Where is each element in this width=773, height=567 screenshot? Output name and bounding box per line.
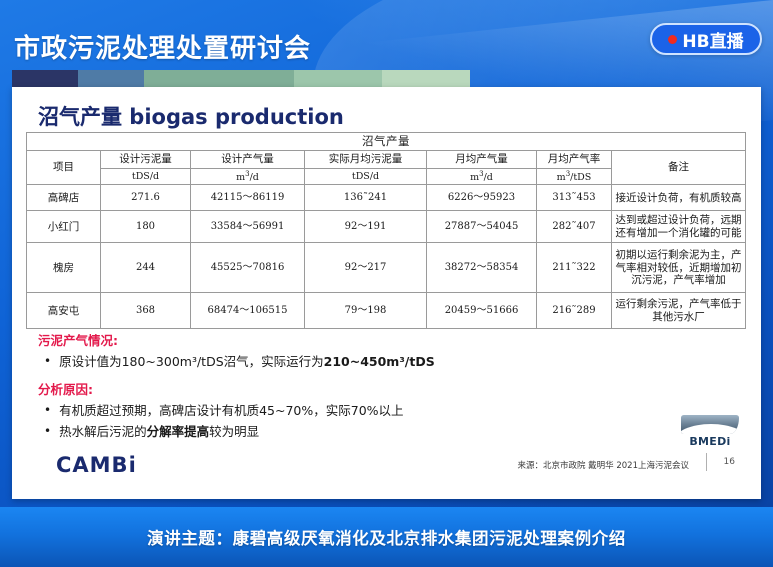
cell-design-gas: 33584～56991 xyxy=(191,211,305,243)
deck-title: 市政污泥处理处置研讨会 xyxy=(14,28,311,65)
table-caption: 沼气产量 xyxy=(27,133,746,151)
bullet-text: 原设计值为180~300m³/tDS沼气，实际运行为210~450m³/tDS xyxy=(59,354,435,370)
cell-remark: 接近设计负荷，有机质较高 xyxy=(612,185,746,211)
cell-project: 小红门 xyxy=(27,211,101,243)
bmedi-wave-icon xyxy=(681,415,739,434)
cell-remark: 达到或超过设计负荷，远期还有增加一个消化罐的可能 xyxy=(612,211,746,243)
color-strip-segment-2 xyxy=(78,70,144,87)
col-header-actual-sludge: 实际月均污泥量 xyxy=(305,151,427,169)
ribbon-topic-text: 演讲主题：康碧高级厌氧消化及北京排水集团污泥处理案例介绍 xyxy=(147,525,626,549)
bullet-text: 热水解后污泥的分解率提高较为明显 xyxy=(59,424,259,440)
cell-project: 高安屯 xyxy=(27,293,101,329)
table-caption-row: 沼气产量 xyxy=(27,133,746,151)
bullet-dot-icon: • xyxy=(44,354,51,369)
slide-card: 沼气产量 biogas production 沼气产量 项目 设计污泥量 设计产… xyxy=(12,87,761,499)
table-body: 高碑店271.642115～86119136˜2416226～95923313˜… xyxy=(27,185,746,329)
cambi-logo: CAMBi xyxy=(56,453,137,477)
cell-project: 高碑店 xyxy=(27,185,101,211)
bullet-item: •有机质超过预期，高碑店设计有机质45~70%，实际70%以上 xyxy=(44,403,558,419)
bullet-item: •热水解后污泥的分解率提高较为明显 xyxy=(44,424,558,440)
bullet-dot-icon: • xyxy=(44,403,51,418)
cell-gas-rate: 313˜453 xyxy=(537,185,612,211)
analysis-notes: 污泥产气情况:•原设计值为180~300m³/tDS沼气，实际运行为210~45… xyxy=(38,330,558,444)
col-header-remark: 备注 xyxy=(612,151,746,185)
table-row: 高安屯36868474～10651579～19820459～51666216˜2… xyxy=(27,293,746,329)
section-heading: 分析原因: xyxy=(38,379,558,398)
cell-design-sludge: 368 xyxy=(101,293,191,329)
table-header-names-row: 项目 设计污泥量 设计产气量 实际月均污泥量 月均产气量 月均产气率 备注 xyxy=(27,151,746,169)
col-unit-gas-rate: m3/tDS xyxy=(537,169,612,185)
col-unit-design-sludge: tDS/d xyxy=(101,169,191,185)
cell-remark: 初期以运行剩余泥为主，产气率相对较低，近期增加初沉污泥，产气率增加 xyxy=(612,243,746,293)
cell-gas-rate: 282˜407 xyxy=(537,211,612,243)
cell-actual-gas: 38272～58354 xyxy=(427,243,537,293)
bullet-emphasis: 210~450m³/tDS xyxy=(324,354,435,369)
section-heading: 污泥产气情况: xyxy=(38,330,558,349)
cell-actual-sludge: 136˜241 xyxy=(305,185,427,211)
footer-divider xyxy=(706,453,707,471)
bottom-ribbon: 演讲主题：康碧高级厌氧消化及北京排水集团污泥处理案例介绍 xyxy=(0,507,773,567)
cell-project: 槐房 xyxy=(27,243,101,293)
col-header-design-sludge: 设计污泥量 xyxy=(101,151,191,169)
cell-gas-rate: 216˜289 xyxy=(537,293,612,329)
page-number: 16 xyxy=(724,457,735,467)
color-strip-segment-1 xyxy=(12,70,78,87)
cell-design-gas: 68474～106515 xyxy=(191,293,305,329)
bmedi-logo: BMEDi xyxy=(681,415,739,448)
bmedi-logo-text: BMEDi xyxy=(681,435,739,448)
cell-gas-rate: 211˜322 xyxy=(537,243,612,293)
slide-title: 沼气产量 biogas production xyxy=(38,101,344,131)
cell-design-sludge: 271.6 xyxy=(101,185,191,211)
cell-actual-gas: 6226～95923 xyxy=(427,185,537,211)
cell-design-sludge: 180 xyxy=(101,211,191,243)
table-row: 槐房24445525～7081692～21738272～58354211˜322… xyxy=(27,243,746,293)
live-badge-label: HB直播 xyxy=(682,27,743,52)
color-strip-segment-4 xyxy=(294,70,382,87)
col-unit-design-gas: m3/d xyxy=(191,169,305,185)
cell-design-gas: 42115～86119 xyxy=(191,185,305,211)
table-row: 高碑店271.642115～86119136˜2416226～95923313˜… xyxy=(27,185,746,211)
slide-screenshot: 市政污泥处理处置研讨会 HB直播 沼气产量 biogas production … xyxy=(0,0,773,567)
cell-design-sludge: 244 xyxy=(101,243,191,293)
source-citation: 来源：北京市政院 戴明华 2021上海污泥会议 xyxy=(517,459,689,471)
bullet-item: •原设计值为180~300m³/tDS沼气，实际运行为210~450m³/tDS xyxy=(44,354,558,370)
top-header-bar: 市政污泥处理处置研讨会 HB直播 xyxy=(0,0,773,88)
cell-actual-sludge: 79～198 xyxy=(305,293,427,329)
col-header-design-gas: 设计产气量 xyxy=(191,151,305,169)
col-header-project: 项目 xyxy=(27,151,101,185)
col-header-actual-gas: 月均产气量 xyxy=(427,151,537,169)
bullet-emphasis: 分解率提高 xyxy=(147,424,210,439)
table-row: 小红门18033584～5699192～19127887～54045282˜40… xyxy=(27,211,746,243)
cell-design-gas: 45525～70816 xyxy=(191,243,305,293)
hb-live-badge[interactable]: HB直播 xyxy=(650,23,762,55)
col-unit-actual-gas: m3/d xyxy=(427,169,537,185)
bullet-text: 有机质超过预期，高碑店设计有机质45~70%，实际70%以上 xyxy=(59,403,403,419)
col-unit-actual-sludge: tDS/d xyxy=(305,169,427,185)
cell-actual-gas: 20459～51666 xyxy=(427,293,537,329)
table-head: 沼气产量 项目 设计污泥量 设计产气量 实际月均污泥量 月均产气量 月均产气率 … xyxy=(27,133,746,185)
color-strip-segment-5 xyxy=(382,70,470,87)
cell-actual-gas: 27887～54045 xyxy=(427,211,537,243)
cell-actual-sludge: 92～217 xyxy=(305,243,427,293)
col-header-gas-rate: 月均产气率 xyxy=(537,151,612,169)
bullet-dot-icon: • xyxy=(44,424,51,439)
cell-remark: 运行剩余污泥，产气率低于其他污水厂 xyxy=(612,293,746,329)
color-strip-segment-3 xyxy=(144,70,294,87)
live-record-dot-icon xyxy=(668,35,677,44)
biogas-production-table: 沼气产量 项目 设计污泥量 设计产气量 实际月均污泥量 月均产气量 月均产气率 … xyxy=(26,132,746,329)
color-strip xyxy=(12,70,470,87)
cell-actual-sludge: 92～191 xyxy=(305,211,427,243)
